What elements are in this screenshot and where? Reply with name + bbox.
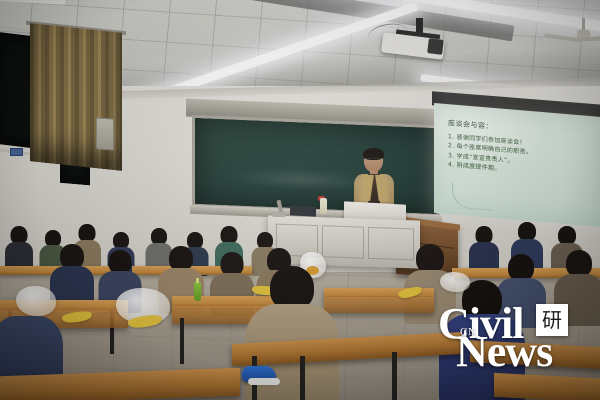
shoe-sole xyxy=(248,378,280,385)
list-item xyxy=(470,226,498,272)
list-item xyxy=(556,250,600,324)
wall-sign-3 xyxy=(10,148,23,156)
wall-speaker-left xyxy=(96,117,114,150)
bench-leg xyxy=(300,356,305,400)
classroom-photo: 座谈会与容： 1. 感谢同学们参加座谈会！ 2. 每个座席明确自己的职责。 3.… xyxy=(0,0,600,400)
slide-decoration xyxy=(452,182,493,210)
bench-leg xyxy=(392,352,397,400)
chalkboard-surface xyxy=(192,115,440,217)
glasses-icon xyxy=(365,158,382,163)
desk-panel xyxy=(324,297,434,313)
desk-leg xyxy=(180,318,184,364)
microphone-base xyxy=(272,212,286,217)
laptop-icon xyxy=(290,205,316,216)
bottle-on-desk xyxy=(320,198,327,214)
projector-icon xyxy=(382,26,452,60)
list-item xyxy=(52,244,92,306)
chalkboard xyxy=(186,99,446,234)
list-item xyxy=(6,226,32,270)
ceiling-fan-right xyxy=(558,18,600,48)
projection-screen: 座谈会与容： 1. 感谢同学们参加座谈会！ 2. 每个座席明确自己的职责。 3.… xyxy=(434,103,600,227)
bench xyxy=(494,373,600,400)
green-bottle xyxy=(194,282,201,301)
plastic-bag xyxy=(440,272,470,292)
